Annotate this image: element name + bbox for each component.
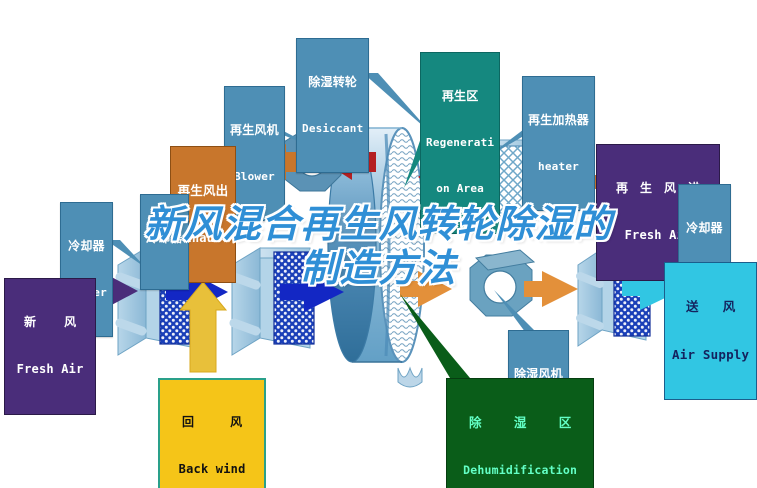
- label-regen-heater[interactable]: 再生加热器 heater: [522, 76, 595, 211]
- cooler-unit-mid: [232, 248, 314, 355]
- label-regeneration-area-en1: Regenerati: [426, 137, 494, 149]
- label-air-supply[interactable]: 送 风 Air Supply: [664, 262, 757, 400]
- label-regeneration-area[interactable]: 再生区 Regenerati on Area: [420, 52, 500, 234]
- label-regeneration-area-cn: 再生区: [426, 90, 494, 103]
- label-cooler-right-cn: 冷却器: [684, 222, 725, 235]
- label-back-wind-cn: 回 风: [166, 416, 258, 429]
- label-air-supply-en: Air Supply: [672, 348, 749, 362]
- label-fresh-air[interactable]: 新 风 Fresh Air: [4, 278, 96, 415]
- label-regen-heater-en: heater: [528, 161, 589, 173]
- diagram-canvas: 除湿转轮 Desiccant 再生风机 Blower 再生区 Regenerat…: [0, 0, 757, 488]
- label-cooler-mid[interactable]: 冷却器: [140, 194, 189, 290]
- label-desiccant-en: Desiccant: [302, 123, 363, 135]
- label-back-wind[interactable]: 回 风 Back wind: [158, 378, 266, 488]
- label-cooler-left-cn: 冷却器: [66, 240, 107, 253]
- label-regen-blower-en: Blower: [230, 171, 279, 183]
- label-cooler-mid-cn: 冷却器: [146, 232, 183, 245]
- label-fresh-air-en: Fresh Air: [12, 363, 88, 376]
- label-dehumidification-district[interactable]: 除 湿 区 Dehumidification District: [446, 378, 594, 488]
- label-desiccant[interactable]: 除湿转轮 Desiccant: [296, 38, 369, 173]
- label-regen-heater-cn: 再生加热器: [528, 114, 589, 127]
- label-dehumid-district-en1: Dehumidification: [455, 464, 585, 476]
- label-air-supply-cn: 送 风: [672, 300, 749, 314]
- label-desiccant-cn: 除湿转轮: [302, 76, 363, 89]
- label-dehumid-district-cn: 除 湿 区: [455, 416, 585, 430]
- label-fresh-air-cn: 新 风: [12, 316, 88, 329]
- label-back-wind-en: Back wind: [166, 463, 258, 476]
- label-regeneration-area-en2: on Area: [426, 183, 494, 195]
- label-regen-blower-cn: 再生风机: [230, 124, 279, 137]
